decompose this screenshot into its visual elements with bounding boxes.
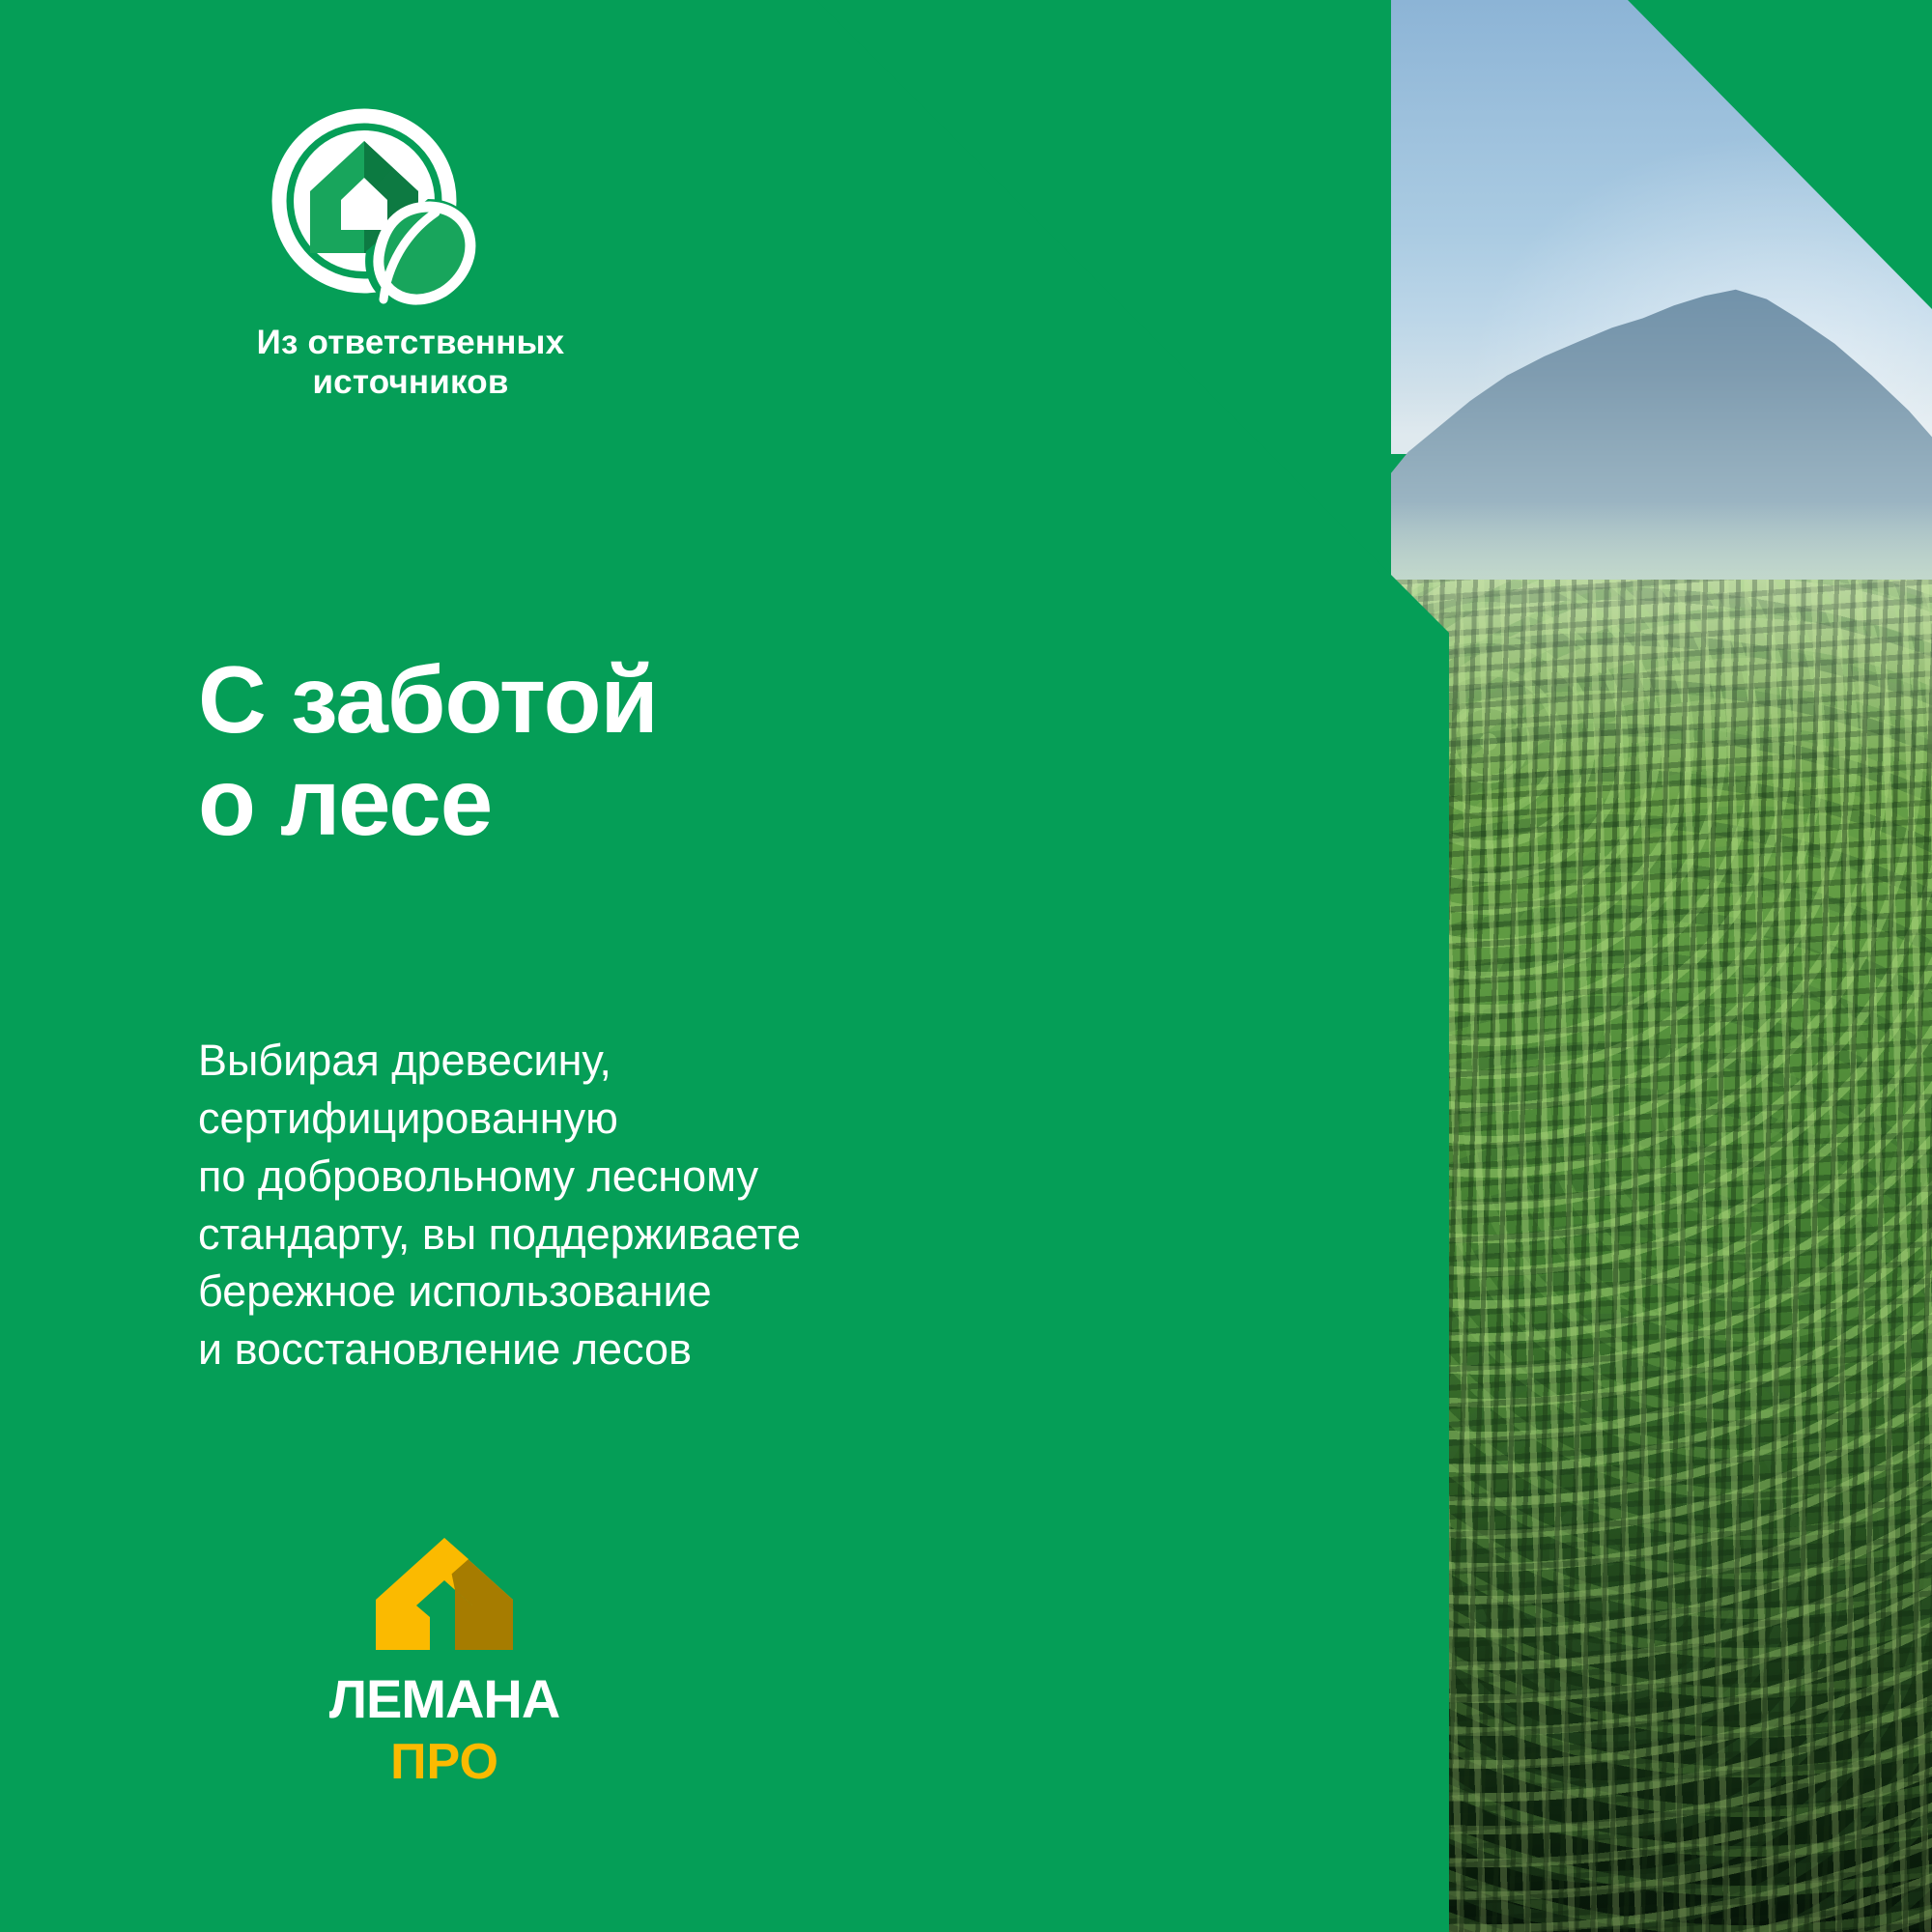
lemana-pro-logo: ЛЕМАНА ПРО: [241, 1534, 647, 1786]
lemana-wordmark: ЛЕМАНА: [285, 1672, 604, 1726]
photo-sky: [1391, 0, 1932, 1932]
body-paragraph: Выбирая древесину, сертифицированную по …: [198, 1032, 801, 1378]
house-leaf-circle-emblem-icon: [258, 106, 490, 309]
svg-text:ЛЕМАНА: ЛЕМАНА: [329, 1672, 560, 1726]
lemana-pro-suffix: ПРО: [360, 1736, 529, 1786]
responsible-sources-badge: Из ответственных источников: [237, 106, 642, 403]
forest-shading-overlay: [1391, 580, 1932, 1932]
lemana-house-icon: [372, 1534, 517, 1655]
badge-caption: Из ответственных источников: [237, 323, 584, 403]
svg-text:ПРО: ПРО: [390, 1736, 498, 1786]
poster-canvas: Из ответственных источников С заботой о …: [0, 0, 1932, 1932]
page-title: С заботой о лесе: [198, 649, 658, 854]
forest-photo: [1391, 0, 1932, 1932]
